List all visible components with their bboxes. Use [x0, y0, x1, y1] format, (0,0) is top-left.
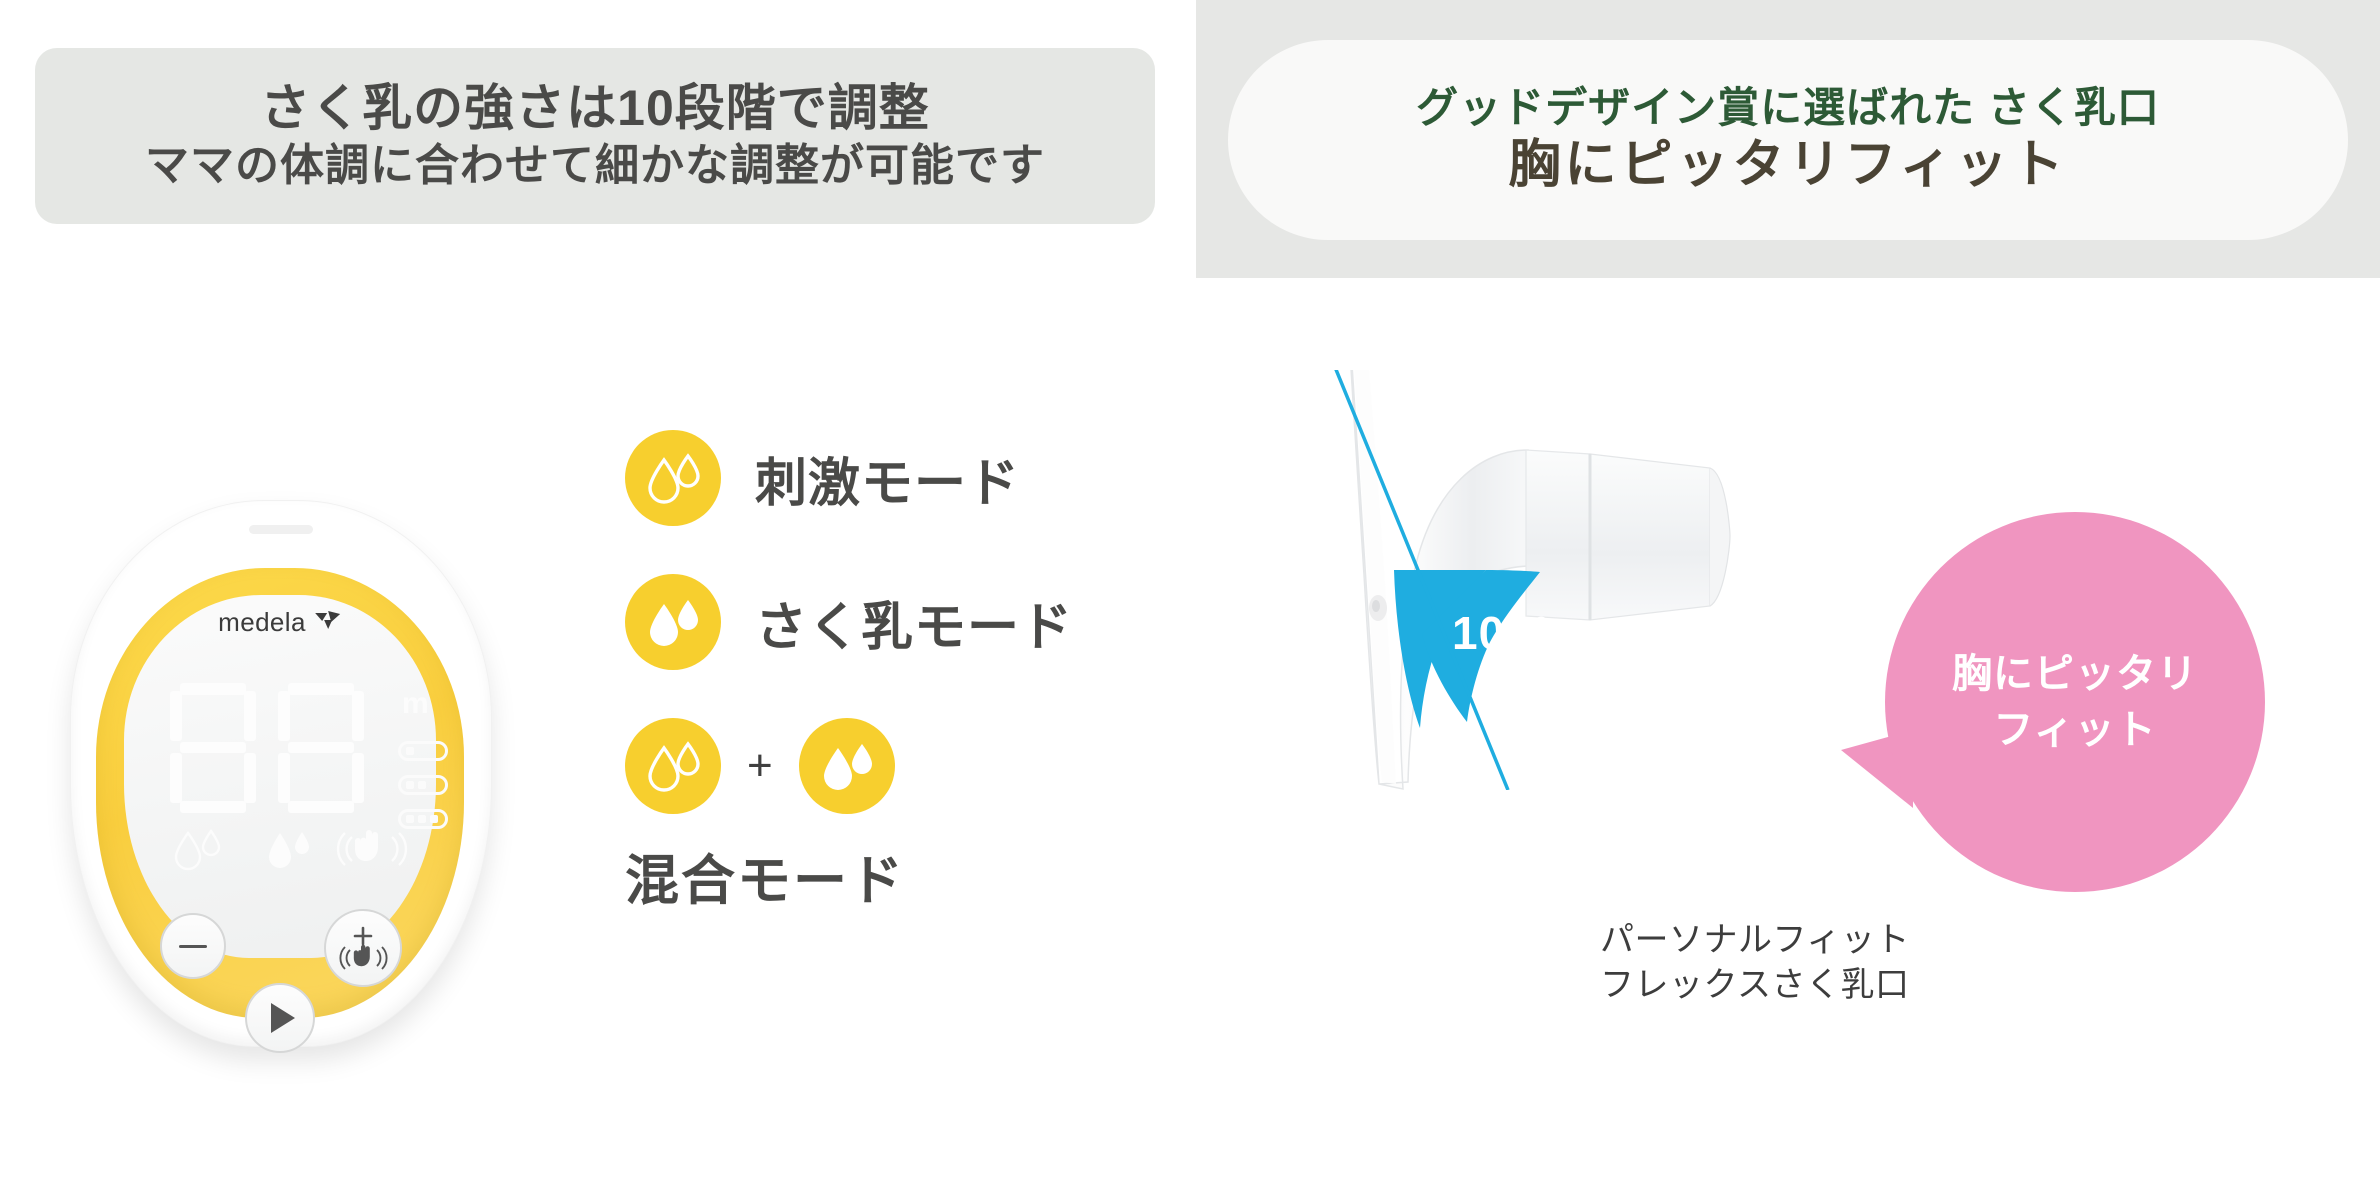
- lcd-digit-tens: [170, 683, 256, 813]
- filled-and-outline-drops-icon: [625, 574, 721, 670]
- breast-shield-svg: 105°: [1290, 370, 1850, 790]
- pump-mode-list: 刺激モード さく乳モード +: [625, 430, 1165, 915]
- shield-caption-line2: フレックスさく乳口: [1600, 963, 1910, 1008]
- breast-shield-illustration: 105°: [1290, 370, 1850, 790]
- medela-wordmark: medela: [218, 607, 306, 638]
- mode-row-stimulation: 刺激モード: [625, 430, 1165, 526]
- shield-caption-line1: パーソナルフィット: [1600, 918, 1910, 963]
- battery-indicator-full: [398, 809, 448, 829]
- right-header-line1: グッドデザイン賞に選ばれた さく乳口: [1416, 84, 2160, 132]
- filled-and-outline-drops-icon: [799, 718, 895, 814]
- speech-bubble-body: 胸にピッタリ フィット: [1885, 512, 2265, 892]
- lcd-expression-drops-icon: [262, 827, 320, 876]
- play-pause-button[interactable]: [245, 983, 315, 1053]
- increase-vibration-button[interactable]: [324, 909, 402, 987]
- angle-indicator: 105°: [1394, 566, 1540, 728]
- lcd-minute-unit: m: [402, 689, 429, 719]
- decrease-button[interactable]: [160, 913, 226, 979]
- mode-label-stimulation: 刺激モード: [755, 441, 1020, 516]
- two-outline-drops-icon: [625, 718, 721, 814]
- play-triangle-icon: [271, 1003, 295, 1033]
- mixed-mode-icons: +: [625, 718, 1165, 814]
- right-header-pill: グッドデザイン賞に選ばれた さく乳口 胸にピッタリフィット: [1228, 40, 2348, 240]
- left-header-line2: ママの体調に合わせて細かな調整が可能です: [145, 142, 1045, 190]
- battery-indicator-low: [398, 741, 448, 761]
- two-outline-drops-icon: [625, 430, 721, 526]
- medela-logo-icon: [314, 610, 342, 635]
- mode-label-mixed: 混合モード: [625, 836, 1165, 915]
- bubble-line2: フィット: [1993, 705, 2156, 755]
- pump-control-face: medela: [124, 595, 436, 958]
- lcd-digit-ones: [278, 683, 364, 813]
- breast-pump-device: medela: [70, 500, 490, 1070]
- mode-row-mixed: + 混合モード: [625, 718, 1165, 915]
- mode-row-expression: さく乳モード: [625, 574, 1165, 670]
- medela-brand: medela: [218, 607, 342, 638]
- battery-indicator-mid: [398, 775, 448, 795]
- left-header-box: さく乳の強さは10段階で調整 ママの体調に合わせて細かな調整が可能です: [35, 48, 1155, 224]
- pump-yellow-ring: medela: [96, 568, 464, 1018]
- pump-lcd-display: m: [170, 683, 385, 813]
- fit-speech-bubble: 胸にピッタリ フィット: [1885, 512, 2265, 892]
- lcd-vibration-hand-icon: [336, 827, 408, 878]
- plus-sign: +: [747, 744, 773, 788]
- mode-label-expression: さく乳モード: [755, 585, 1073, 660]
- lcd-stimulation-drops-icon: [168, 827, 230, 876]
- shield-caption: パーソナルフィット フレックスさく乳口: [1600, 918, 1910, 1008]
- right-header-line2: 胸にピッタリフィット: [1509, 136, 2068, 196]
- bubble-line1: 胸にピッタリ: [1952, 649, 2198, 699]
- left-header-line1: さく乳の強さは10段階で調整: [260, 81, 930, 136]
- lcd-mode-indicators: [168, 827, 418, 873]
